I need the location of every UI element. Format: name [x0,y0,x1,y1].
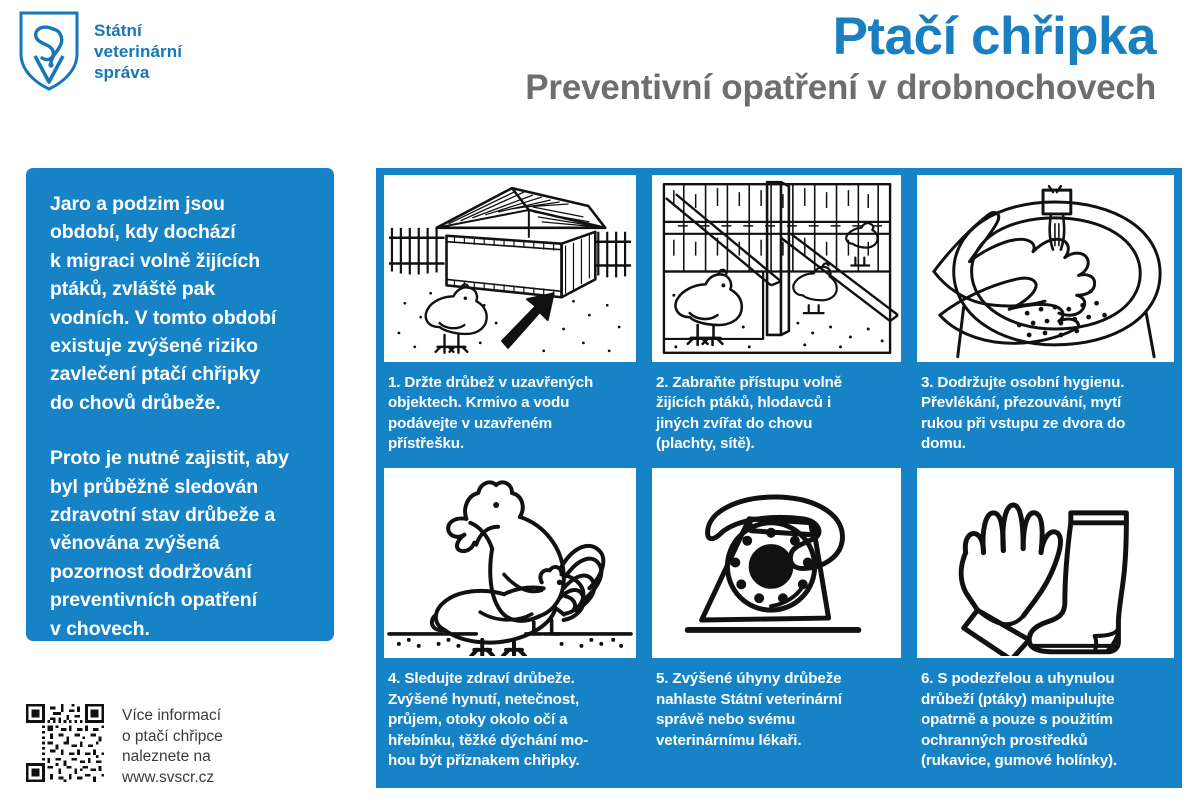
footer-line-3: naleznete na [122,747,223,768]
intro-paragraph-1: Jaro a podzim jsou období, kdy dochází k… [50,190,314,417]
hand-washing-sink-icon [917,175,1174,362]
logo-line-3: správa [94,62,182,83]
intro-panel: Jaro a podzim jsou období, kdy dochází k… [26,168,334,641]
measure-panel-4: 4. Sledujte zdraví drůbeže. Zvýšené hynu… [376,461,644,788]
measure-caption-3: 3. Dodržujte osobní hygienu. Převlékání,… [917,362,1174,455]
qr-code-icon[interactable] [26,704,104,782]
footer-website-link[interactable]: www.svscr.cz [122,768,223,789]
measure-panel-6: 6. S podezřelou a uhynulou drůbeží (pták… [909,461,1182,788]
poster-root: Státní veterinární správa Ptačí chřipka … [0,0,1200,808]
measure-caption-6: 6. S podezřelou a uhynulou drůbeží (pták… [917,658,1174,772]
barn-with-fence-chicken-arrow-icon [384,175,636,362]
measure-panel-3: 3. Dodržujte osobní hygienu. Převlékání,… [909,168,1182,461]
footer-line-2: o ptačí chřipce [122,727,223,748]
measures-grid: 1. Držte drůbež v uzavřených objektech. … [376,168,1182,788]
page-title: Ptačí chřipka [525,8,1156,66]
measure-caption-5: 5. Zvýšené úhyny drůbeže nahlaste Státní… [652,658,901,751]
measure-panel-2: 2. Zabraňte přístupu volně žijících pták… [644,168,909,461]
svs-shield-logo-icon [18,10,80,92]
footer-info-text: Více informací o ptačí chřipce naleznete… [122,704,223,788]
page-subtitle: Preventivní opatření v drobnochovech [525,67,1156,109]
chickens-in-wooden-coop-icon [652,175,901,362]
rooster-and-hen-icon [384,468,636,658]
measure-caption-4: 4. Sledujte zdraví drůbeže. Zvýšené hynu… [384,658,636,772]
logo-line-1: Státní [94,20,182,41]
measure-caption-2: 2. Zabraňte přístupu volně žijících pták… [652,362,901,455]
logo-line-2: veterinární [94,41,182,62]
organization-logo-block: Státní veterinární správa [18,10,182,92]
title-block: Ptačí chřipka Preventivní opatření v dro… [525,8,1156,109]
rotary-telephone-icon [652,468,901,658]
measure-panel-1: 1. Držte drůbež v uzavřených objektech. … [376,168,644,461]
organization-name: Státní veterinární správa [94,10,182,83]
glove-and-rubber-boot-icon [917,468,1174,658]
intro-paragraph-2: Proto je nutné zajistit, aby byl průběžn… [50,444,314,643]
measure-panel-5: 5. Zvýšené úhyny drůbeže nahlaste Státní… [644,461,909,788]
poster-header: Státní veterinární správa Ptačí chřipka … [0,0,1200,150]
measure-caption-1: 1. Držte drůbež v uzavřených objektech. … [384,362,636,455]
footer-line-1: Více informací [122,706,223,727]
footer-block: Více informací o ptačí chřipce naleznete… [26,704,223,788]
